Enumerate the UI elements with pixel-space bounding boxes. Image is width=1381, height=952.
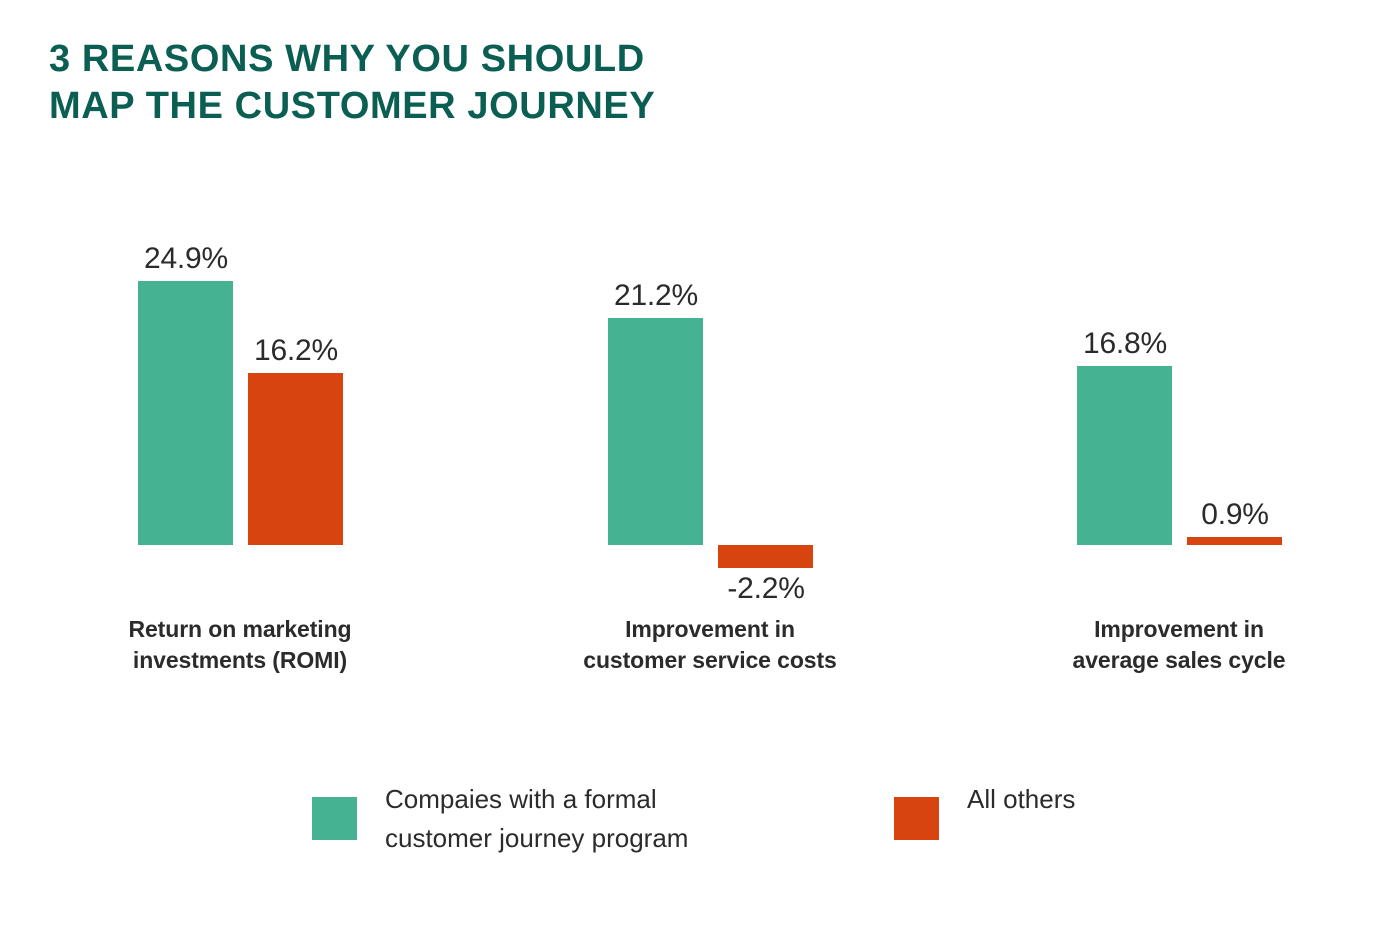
legend-label-series-b: All others [967, 780, 1075, 819]
category-label-2: Improvement in average sales cycle [1009, 614, 1349, 676]
bar-group-romi: 24.9% 16.2% Return on marketing investme… [138, 0, 343, 700]
bar-value-a-0: 24.9% [86, 242, 286, 276]
bar-series-a-0[interactable] [138, 281, 233, 545]
bar-value-a-2: 16.8% [1025, 327, 1225, 361]
chart-legend: Compaies with a formal customer journey … [0, 780, 1381, 900]
legend-item-companies-with-program[interactable]: Compaies with a formal customer journey … [312, 780, 688, 858]
legend-label-series-a: Compaies with a formal customer journey … [385, 780, 688, 858]
bar-series-b-0[interactable] [248, 373, 343, 545]
bar-group-sales-cycle: 16.8% 0.9% Improvement in average sales … [1077, 0, 1282, 700]
bar-series-a-1[interactable] [608, 318, 703, 545]
bar-value-b-1: -2.2% [666, 572, 866, 606]
bar-value-b-2: 0.9% [1135, 498, 1335, 532]
legend-swatch-icon-series-a [312, 797, 357, 840]
category-label-1: Improvement in customer service costs [540, 614, 880, 676]
bar-value-b-0: 16.2% [196, 334, 396, 368]
bar-group-service-costs: 21.2% -2.2% Improvement in customer serv… [608, 0, 813, 700]
bar-value-a-1: 21.2% [556, 279, 756, 313]
legend-item-all-others[interactable]: All others [894, 780, 1075, 840]
chart-canvas: 3 REASONS WHY YOU SHOULD MAP THE CUSTOME… [0, 0, 1381, 952]
plot-area: 24.9% 16.2% Return on marketing investme… [0, 0, 1381, 700]
bar-series-b-2[interactable] [1187, 537, 1282, 545]
legend-swatch-icon-series-b [894, 797, 939, 840]
category-label-0: Return on marketing investments (ROMI) [70, 614, 410, 676]
bar-series-b-1[interactable] [718, 545, 813, 568]
